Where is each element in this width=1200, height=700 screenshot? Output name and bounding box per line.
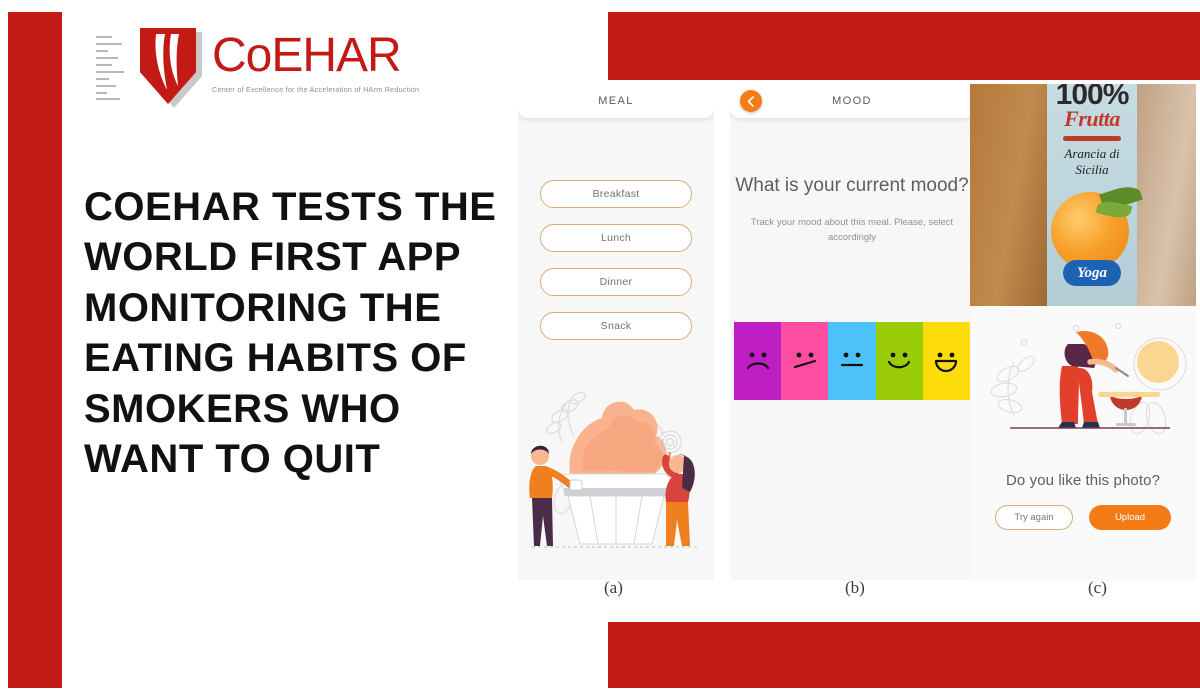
photo-action-buttons: Try again Upload [970,505,1196,530]
mood-selector [734,322,970,400]
very-sad-face-icon [741,349,775,373]
logo-tagline: Center of Excellence for the Acceleratio… [212,85,419,94]
woman-photographing-food-illustration [970,306,1196,456]
red-accent-bar-top-right [608,12,1200,80]
very-happy-face-icon [929,349,963,373]
figure-caption-a: (a) [604,578,623,598]
poster-canvas: CoEHAR Center of Excellence for the Acce… [0,0,1200,700]
app-bar-meal: MEAL [518,84,714,118]
upload-button[interactable]: Upload [1089,505,1171,530]
photo-product-arancia: Arancia di Sicilia [1047,146,1137,179]
happy-face-icon [882,349,916,373]
mood-subtitle: Track your mood about this meal. Please,… [730,216,974,245]
app-bar-title: MOOD [832,95,872,107]
arrow-left-icon [746,96,757,107]
photo-product-frutta: Frutta [1047,106,1137,132]
app-bar-mood: MOOD [730,84,974,118]
mood-option-happy[interactable] [876,322,923,400]
cupcake-illustration [518,370,714,570]
phone-screenshot-photo: 100% Frutta Arancia di Sicilia Yoga [970,84,1196,580]
app-bar-title: MEAL [598,95,634,107]
mood-option-sad[interactable] [781,322,828,400]
logo-wordmark: CoEHAR [212,32,419,80]
figure-captions: (a) (b) (c) [518,578,1200,608]
meal-option-lunch[interactable]: Lunch [540,224,692,252]
sad-face-icon [788,349,822,373]
photo-question: Do you like this photo? [970,472,1196,489]
photo-brand-yoga: Yoga [1063,260,1122,286]
photo-arancia-line1: Arancia di [1064,146,1119,161]
page-title: COEHAR TESTS THE WORLD FIRST APP MONITOR… [84,182,504,484]
red-accent-bar-bottom-right [608,622,1200,688]
mood-question: What is your current mood? [730,174,974,198]
photo-arancia-line2: Sicilia [1075,162,1108,177]
shield-icon [140,28,202,108]
meal-option-snack[interactable]: Snack [540,312,692,340]
red-accent-bar-left [8,12,62,688]
mood-prompt: What is your current mood? Track your mo… [730,118,974,245]
figure-row: MEAL Breakfast Lunch Dinner Snack [518,84,1200,584]
mood-option-very-sad[interactable] [734,322,781,400]
back-button[interactable] [740,90,762,112]
mood-option-very-happy[interactable] [923,322,970,400]
neutral-face-icon [835,349,869,373]
person-right-illustration [665,454,694,546]
meal-option-list: Breakfast Lunch Dinner Snack [518,118,714,340]
phone-screenshot-meal: MEAL Breakfast Lunch Dinner Snack [518,84,714,580]
try-again-button[interactable]: Try again [995,505,1073,530]
phone-screenshot-mood: MOOD What is your current mood? Track yo… [730,84,974,580]
logo-tick-marks-icon [96,34,138,102]
mood-option-neutral[interactable] [828,322,875,400]
meal-option-dinner[interactable]: Dinner [540,268,692,296]
figure-caption-c: (c) [1088,578,1107,598]
coehar-logo: CoEHAR Center of Excellence for the Acce… [96,28,419,108]
figure-caption-b: (b) [845,578,865,598]
meal-option-breakfast[interactable]: Breakfast [540,180,692,208]
juice-carton-photo: 100% Frutta Arancia di Sicilia Yoga [970,84,1196,306]
